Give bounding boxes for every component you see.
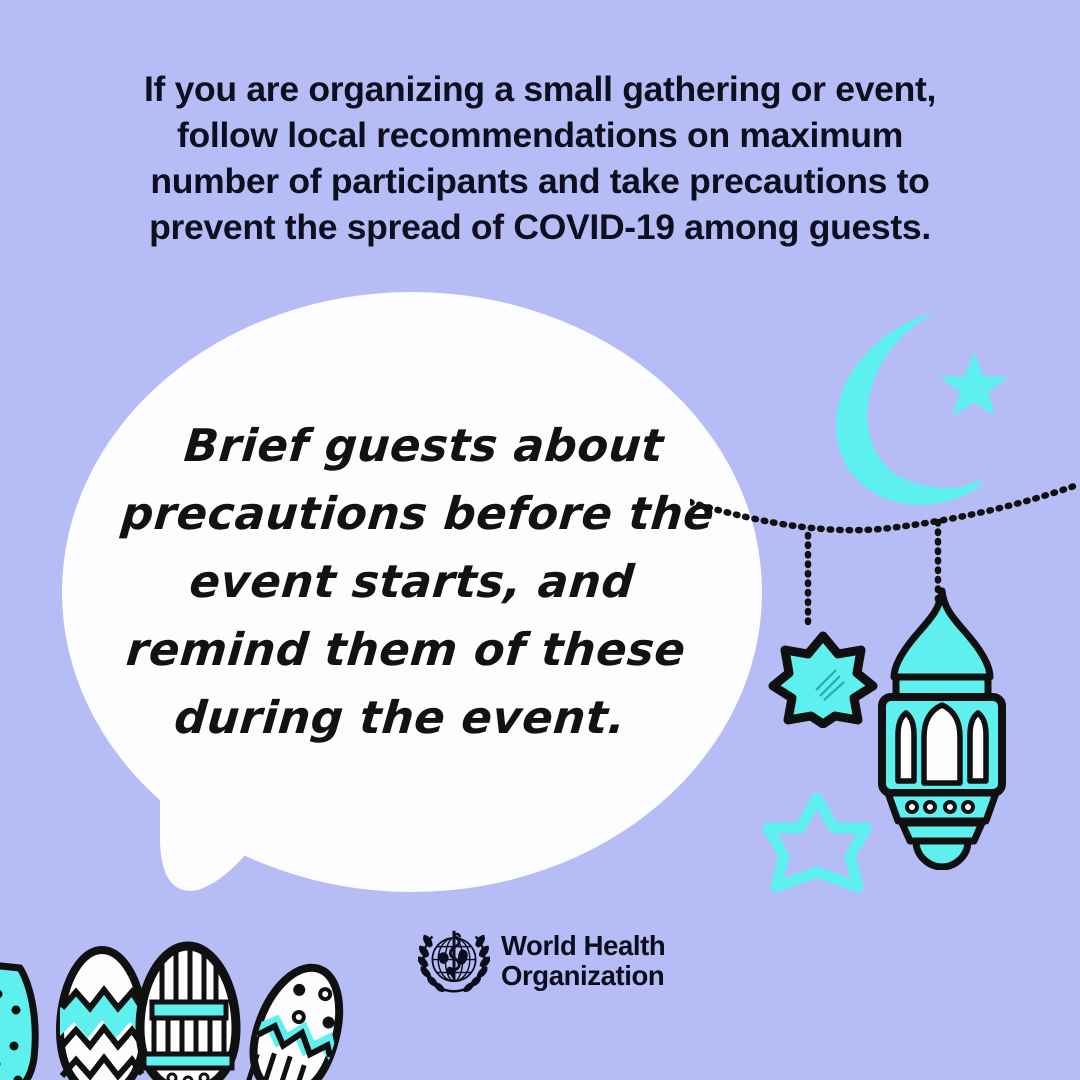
egg-tilted-dots	[240, 956, 352, 1080]
speech-bubble-text: Brief guests about precautions before th…	[93, 412, 731, 752]
small-star-icon	[940, 352, 1008, 416]
who-emblem-icon	[418, 925, 490, 997]
speech-bubble: Brief guests about precautions before th…	[62, 292, 762, 912]
eight-pointed-star-icon	[768, 628, 878, 728]
hanging-lantern-icon	[862, 585, 1022, 870]
poster-canvas: If you are organizing a small gathering …	[0, 0, 1080, 1080]
who-logo-text: World Health Organization	[501, 931, 665, 991]
egg-zigzag	[60, 950, 144, 1080]
header-message: If you are organizing a small gathering …	[60, 66, 1020, 250]
egg-dotted	[0, 962, 35, 1080]
egg-striped	[140, 946, 236, 1080]
who-logo: World Health Organization	[418, 925, 665, 997]
six-pointed-star-icon	[762, 790, 872, 895]
decorated-eggs-group	[0, 928, 352, 1080]
